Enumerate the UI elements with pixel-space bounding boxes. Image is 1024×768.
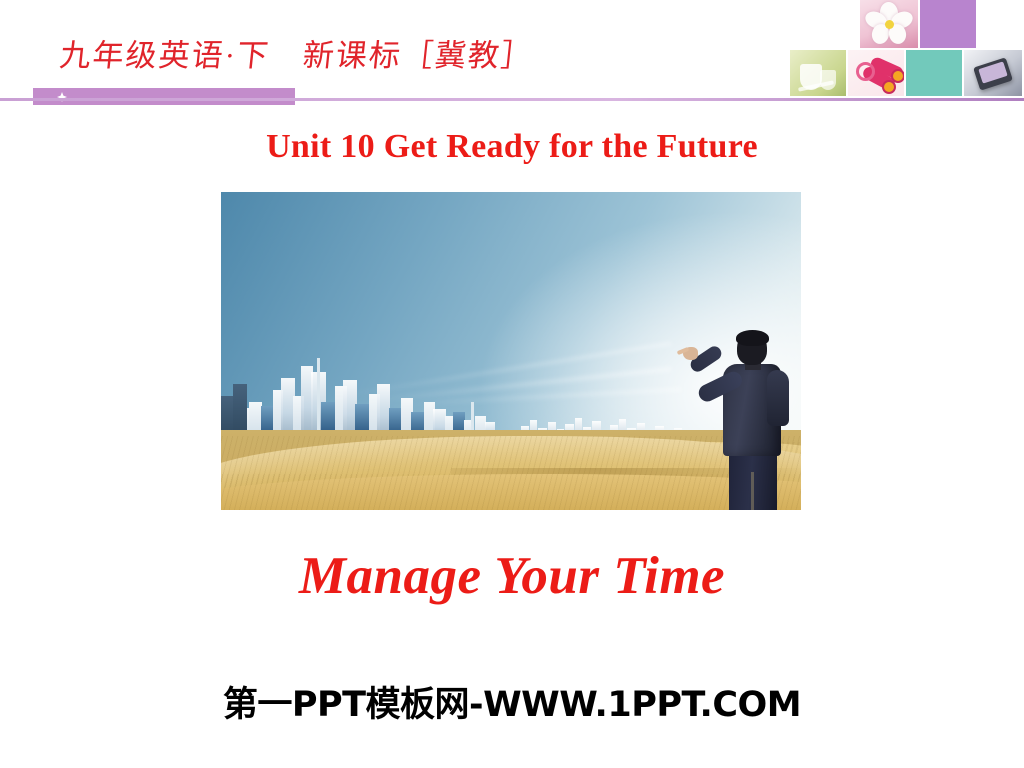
header-accent-bar	[33, 88, 295, 105]
purple-block-tile	[920, 0, 976, 48]
lab-glassware-tile	[790, 50, 846, 96]
unit-title: Unit 10 Get Ready for the Future	[0, 128, 1024, 166]
teal-block-tile	[906, 50, 962, 96]
course-title: 九年级英语·下 新课标［冀教］	[58, 30, 537, 75]
photo-businessman-figure	[691, 322, 801, 510]
slide-hero-photo	[221, 192, 801, 510]
header-decorative-tiles	[790, 0, 1024, 98]
pink-binoculars-tile	[848, 50, 904, 96]
header-divider-rule	[0, 98, 1024, 101]
site-watermark: 第一PPT模板网-WWW.1PPT.COM	[0, 676, 1024, 727]
lesson-subtitle: Manage Your Time	[0, 546, 1024, 606]
slide-header: 九年级英语·下 新课标［冀教］	[0, 0, 1024, 110]
orchid-flower-tile	[860, 0, 918, 48]
grey-device-tile	[964, 50, 1022, 96]
